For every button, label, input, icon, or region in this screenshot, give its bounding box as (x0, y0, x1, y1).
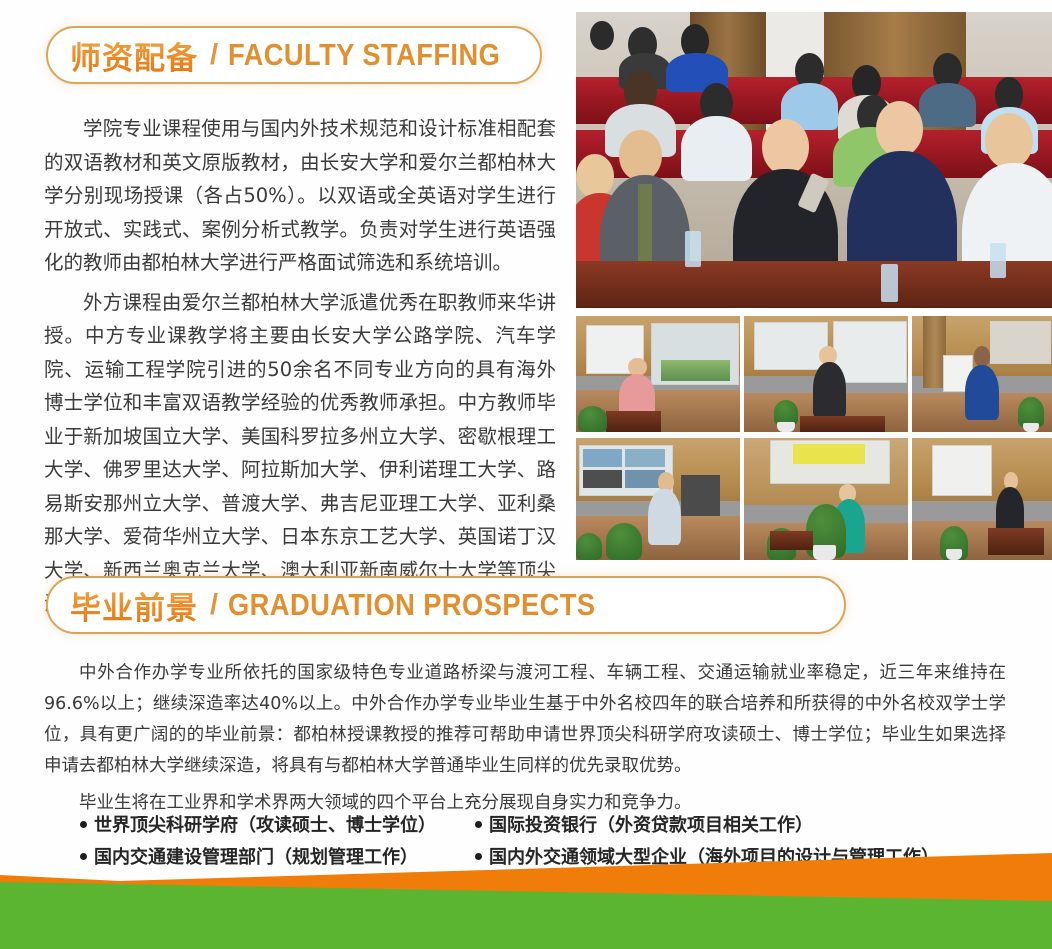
bullet-dot-icon (80, 821, 87, 828)
brochure-page: 师资配备 / FACULTY STAFFING 学院专业课程使用与国内外技术规范… (0, 0, 1052, 949)
section-header-faculty-staffing: 师资配备 / FACULTY STAFFING (46, 26, 542, 84)
photo-lecturer-pink-shirt-presentation (576, 316, 740, 432)
section-title-cn-faculty: 师资配备 (70, 33, 198, 78)
graduation-paragraph-1: 中外合作办学专业所依托的国家级特色专业道路桥梁与渡河工程、车辆工程、交通运输就业… (44, 658, 1006, 782)
faculty-paragraph-2: 外方课程由爱尔兰都柏林大学派遣优秀在职教师来华讲授。中方专业课教学将主要由长安大… (44, 286, 556, 621)
section-title-en-faculty: FACULTY STAFFING (228, 37, 500, 73)
list-item-label: 世界顶尖科研学府（攻读硕士、博士学位） (94, 812, 436, 840)
photo-speaker-at-podium-dark-suit (912, 438, 1052, 560)
section-header-graduation-prospects: 毕业前景 / GRADUATION PROSPECTS (46, 576, 846, 634)
footer-decorative-waves (0, 853, 1052, 949)
photo-collage (576, 12, 1052, 560)
list-item: 国际投资银行（外资贷款项目相关工作） (439, 812, 1006, 840)
list-item-label: 国际投资银行（外资贷款项目相关工作） (489, 812, 813, 840)
list-item: 世界顶尖科研学府（攻读硕士、博士学位） (44, 812, 439, 840)
graduation-prospects-body: 中外合作办学专业所依托的国家级特色专业道路桥梁与渡河工程、车辆工程、交通运输就业… (44, 658, 1006, 821)
bullet-dot-icon (475, 821, 482, 828)
photo-student-blue-shirt-presentation (912, 316, 1052, 432)
faculty-paragraph-1: 学院专业课程使用与国内外技术规范和设计标准相配套的双语教材和英文原版教材，由长安… (44, 112, 556, 280)
photo-female-lecturer-presentation (744, 316, 908, 432)
footer-wave-svg (0, 853, 1052, 949)
section-title-cn-graduation: 毕业前景 (70, 583, 198, 628)
photo-female-speaker-green-dress (744, 438, 908, 560)
photo-lecture-hall-panel-audience (576, 12, 1052, 308)
section-title-separator-faculty: / (210, 39, 218, 72)
section-title-separator-graduation: / (210, 589, 218, 622)
section-title-en-graduation: GRADUATION PROSPECTS (228, 587, 596, 623)
faculty-staffing-body: 学院专业课程使用与国内外技术规范和设计标准相配套的双语教材和英文原版教材，由长安… (44, 112, 556, 621)
photo-lecturer-pointing-at-slides (576, 438, 740, 560)
